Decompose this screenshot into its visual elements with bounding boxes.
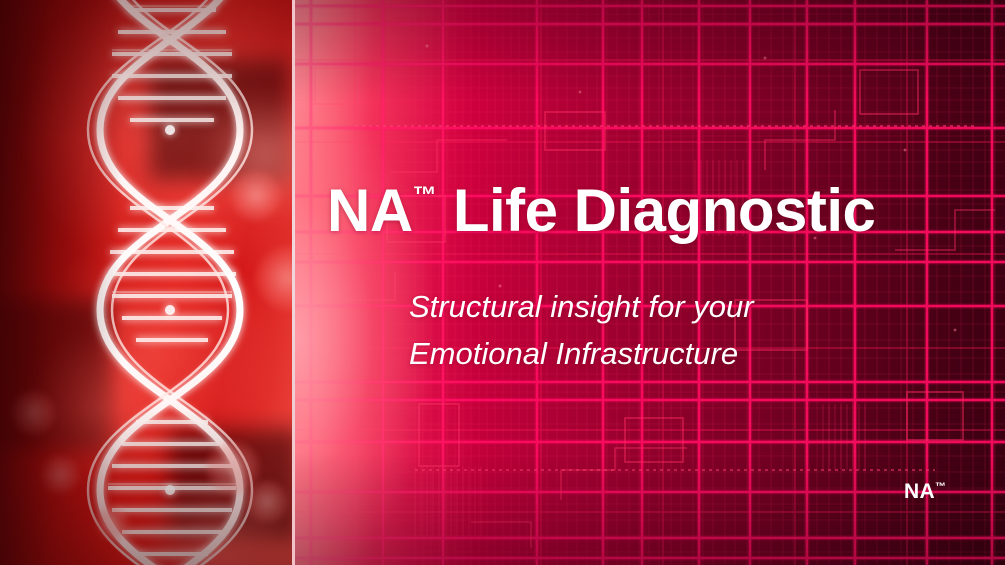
- page-subtitle: Structural insight for your Emotional In…: [409, 283, 754, 377]
- trademark-icon: ™: [413, 182, 437, 209]
- title-brand: NA: [327, 177, 413, 244]
- subtitle-line-1: Structural insight for your: [409, 283, 754, 330]
- subtitle-line-2: Emotional Infrastructure: [409, 330, 754, 377]
- logo-text: NA: [904, 480, 935, 503]
- dna-helix-image: [0, 0, 292, 565]
- brand-logo: NA™: [904, 481, 946, 502]
- page-title: NA™ Life Diagnostic: [327, 181, 875, 241]
- left-panel-shading: [0, 0, 292, 565]
- trademark-icon: ™: [935, 481, 946, 493]
- title-rest: Life Diagnostic: [437, 177, 876, 244]
- presentation-slide: NA™ Life Diagnostic Structural insight f…: [0, 0, 1005, 565]
